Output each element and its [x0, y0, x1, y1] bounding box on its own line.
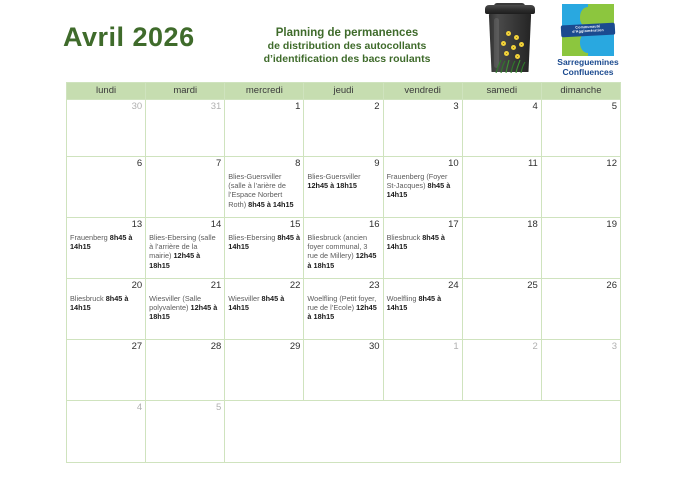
weekday-header-row: lundimardimercredijeudivendredisamedidim… — [67, 83, 621, 100]
event-location: Bliesbruck — [70, 294, 106, 303]
event-location: Blies-Guersviller — [307, 172, 360, 181]
logo-wordmark: Sarreguemines Confluences — [551, 58, 625, 77]
calendar-day-cell[interactable]: 30 — [304, 340, 383, 401]
day-event: Blies-Guersviller 12h45 à 18h15 — [307, 172, 379, 190]
logo-ribbon-text: Communauté d’Agglomération — [561, 24, 615, 35]
day-number: 8 — [228, 158, 300, 170]
calendar-day-cell[interactable]: 4 — [67, 401, 146, 463]
calendar-day-cell[interactable]: 16Bliesbruck (ancien foyer communal, 3 r… — [304, 218, 383, 279]
day-number: 12 — [545, 158, 617, 170]
event-location: Blies-Ebersing — [228, 233, 277, 242]
bin-flower-icon — [519, 42, 524, 47]
calendar-table: lundimardimercredijeudivendredisamedidim… — [66, 82, 621, 463]
day-number: 7 — [149, 158, 221, 170]
day-number: 27 — [70, 341, 142, 353]
day-number: 3 — [387, 101, 459, 113]
event-location: Woelfling — [387, 294, 419, 303]
weekday-header-mardi: mardi — [146, 83, 225, 100]
day-event: Blies-Ebersing (salle à l’arrière de la … — [149, 233, 221, 270]
day-number: 21 — [149, 280, 221, 292]
subtitle-line-3: d’identification des bacs roulants — [241, 53, 453, 66]
calendar-week-row: 27282930123 — [67, 340, 621, 401]
day-event: Wiesviller 8h45 à 14h15 — [228, 294, 300, 312]
calendar-day-cell[interactable]: 5 — [541, 100, 620, 157]
calendar-day-cell[interactable]: 31 — [146, 100, 225, 157]
logo-wordmark-line-2: Confluences — [551, 68, 625, 78]
weekday-header-jeudi: jeudi — [304, 83, 383, 100]
day-number: 19 — [545, 219, 617, 231]
calendar-day-cell[interactable]: 4 — [462, 100, 541, 157]
day-number: 14 — [149, 219, 221, 231]
day-number: 20 — [70, 280, 142, 292]
calendar-day-cell[interactable]: 23Woelfling (Petit foyer, rue de l’Ecole… — [304, 279, 383, 340]
calendar-day-cell[interactable]: 26 — [541, 279, 620, 340]
day-number: 10 — [387, 158, 459, 170]
calendar-day-cell[interactable]: 14Blies-Ebersing (salle à l’arrière de l… — [146, 218, 225, 279]
logo-mark: Communauté d’Agglomération — [562, 4, 614, 56]
calendar-day-cell[interactable]: 3 — [383, 100, 462, 157]
calendar-day-cell[interactable]: 12 — [541, 157, 620, 218]
event-time: 8h45 à 14h15 — [248, 200, 293, 209]
day-number: 18 — [466, 219, 538, 231]
day-number: 4 — [466, 101, 538, 113]
day-number: 4 — [70, 402, 142, 414]
day-number: 3 — [545, 341, 617, 353]
calendar-page: Avril 2026 Planning de permanences de di… — [0, 0, 697, 486]
event-location: Frauenberg — [70, 233, 110, 242]
day-event: Blies-Ebersing 8h45 à 14h15 — [228, 233, 300, 251]
weekday-header-samedi: samedi — [462, 83, 541, 100]
calendar-day-cell[interactable]: 21Wiesviller (Salle polyvalente) 12h45 à… — [146, 279, 225, 340]
calendar-empty-merged-cell — [225, 401, 621, 463]
bin-grass-icon — [494, 59, 526, 73]
calendar-day-cell[interactable]: 30 — [67, 100, 146, 157]
calendar-week-row: 45 — [67, 401, 621, 463]
calendar-day-cell[interactable]: 13Frauenberg 8h45 à 14h15 — [67, 218, 146, 279]
calendar-day-cell[interactable]: 2 — [462, 340, 541, 401]
day-number: 2 — [466, 341, 538, 353]
calendar-day-cell[interactable]: 25 — [462, 279, 541, 340]
bin-flower-icon — [514, 35, 519, 40]
day-event: Frauenberg 8h45 à 14h15 — [70, 233, 142, 251]
day-number: 17 — [387, 219, 459, 231]
calendar-day-cell[interactable]: 5 — [146, 401, 225, 463]
day-number: 26 — [545, 280, 617, 292]
calendar-day-cell[interactable]: 2 — [304, 100, 383, 157]
day-event: Woelfling 8h45 à 14h15 — [387, 294, 459, 312]
weekday-header-lundi: lundi — [67, 83, 146, 100]
day-number: 5 — [545, 101, 617, 113]
subtitle-block: Planning de permanences de distribution … — [241, 26, 453, 66]
day-number: 28 — [149, 341, 221, 353]
page-header: Avril 2026 Planning de permanences de di… — [0, 0, 697, 78]
calendar-week-row: 303112345 — [67, 100, 621, 157]
day-event: Bliesbruck (ancien foyer communal, 3 rue… — [307, 233, 379, 270]
day-number: 31 — [149, 101, 221, 113]
calendar-day-cell[interactable]: 3 — [541, 340, 620, 401]
calendar-day-cell[interactable]: 17Bliesbruck 8h45 à 14h15 — [383, 218, 462, 279]
calendar-day-cell[interactable]: 27 — [67, 340, 146, 401]
calendar-day-cell[interactable]: 7 — [146, 157, 225, 218]
calendar-week-row: 678Blies-Guersviller (salle à l’arière d… — [67, 157, 621, 218]
calendar-day-cell[interactable]: 19 — [541, 218, 620, 279]
waste-bin-icon — [482, 3, 540, 77]
calendar-day-cell[interactable]: 1 — [225, 100, 304, 157]
calendar-day-cell[interactable]: 15Blies-Ebersing 8h45 à 14h15 — [225, 218, 304, 279]
calendar-day-cell[interactable]: 8Blies-Guersviller (salle à l’arière de … — [225, 157, 304, 218]
day-number: 29 — [228, 341, 300, 353]
calendar-day-cell[interactable]: 10Frauenberg (Foyer St-Jacques) 8h45 à 1… — [383, 157, 462, 218]
bin-flower-icon — [506, 31, 511, 36]
page-title: Avril 2026 — [63, 22, 195, 53]
weekday-header-mercredi: mercredi — [225, 83, 304, 100]
bin-flower-icon — [504, 51, 509, 56]
calendar-body: 303112345678Blies-Guersviller (salle à l… — [67, 100, 621, 463]
day-number: 15 — [228, 219, 300, 231]
day-number: 1 — [387, 341, 459, 353]
event-location: Wiesviller — [228, 294, 261, 303]
calendar-day-cell[interactable]: 29 — [225, 340, 304, 401]
day-number: 30 — [70, 101, 142, 113]
day-event: Wiesviller (Salle polyvalente) 12h45 à 1… — [149, 294, 221, 322]
event-time: 12h45 à 18h15 — [307, 181, 357, 190]
calendar-day-cell[interactable]: 18 — [462, 218, 541, 279]
day-number: 5 — [149, 402, 221, 414]
subtitle-line-2: de distribution des autocollants — [241, 40, 453, 53]
calendar-week-row: 20Bliesbruck 8h45 à 14h1521Wiesviller (S… — [67, 279, 621, 340]
calendar-day-cell[interactable]: 24Woelfling 8h45 à 14h15 — [383, 279, 462, 340]
day-number: 6 — [70, 158, 142, 170]
day-number: 24 — [387, 280, 459, 292]
calendar-day-cell[interactable]: 11 — [462, 157, 541, 218]
day-event: Blies-Guersviller (salle à l’arière de l… — [228, 172, 300, 209]
event-location: Bliesbruck — [387, 233, 423, 242]
sarreguemines-confluences-logo: Communauté d’Agglomération Sarreguemines… — [551, 4, 625, 78]
day-number: 23 — [307, 280, 379, 292]
calendar-day-cell[interactable]: 22Wiesviller 8h45 à 14h15 — [225, 279, 304, 340]
calendar-day-cell[interactable]: 28 — [146, 340, 225, 401]
calendar-day-cell[interactable]: 9Blies-Guersviller 12h45 à 18h15 — [304, 157, 383, 218]
calendar-day-cell[interactable]: 6 — [67, 157, 146, 218]
calendar-day-cell[interactable]: 20Bliesbruck 8h45 à 14h15 — [67, 279, 146, 340]
bin-flower-icon — [511, 45, 516, 50]
day-number: 16 — [307, 219, 379, 231]
weekday-header-dimanche: dimanche — [541, 83, 620, 100]
calendar-day-cell[interactable]: 1 — [383, 340, 462, 401]
day-event: Frauenberg (Foyer St-Jacques) 8h45 à 14h… — [387, 172, 459, 200]
day-number: 1 — [228, 101, 300, 113]
weekday-header-vendredi: vendredi — [383, 83, 462, 100]
day-event: Bliesbruck 8h45 à 14h15 — [387, 233, 459, 251]
subtitle-line-1: Planning de permanences — [241, 26, 453, 40]
day-number: 11 — [466, 158, 538, 170]
calendar-week-row: 13Frauenberg 8h45 à 14h1514Blies-Ebersin… — [67, 218, 621, 279]
day-event: Woelfling (Petit foyer, rue de l’Ecole) … — [307, 294, 379, 322]
day-number: 30 — [307, 341, 379, 353]
bin-lid — [485, 5, 535, 14]
day-number: 9 — [307, 158, 379, 170]
day-number: 25 — [466, 280, 538, 292]
day-number: 13 — [70, 219, 142, 231]
day-number: 2 — [307, 101, 379, 113]
bin-flower-icon — [501, 41, 506, 46]
day-number: 22 — [228, 280, 300, 292]
calendar-grid: lundimardimercredijeudivendredisamedidim… — [66, 82, 621, 463]
day-event: Bliesbruck 8h45 à 14h15 — [70, 294, 142, 312]
